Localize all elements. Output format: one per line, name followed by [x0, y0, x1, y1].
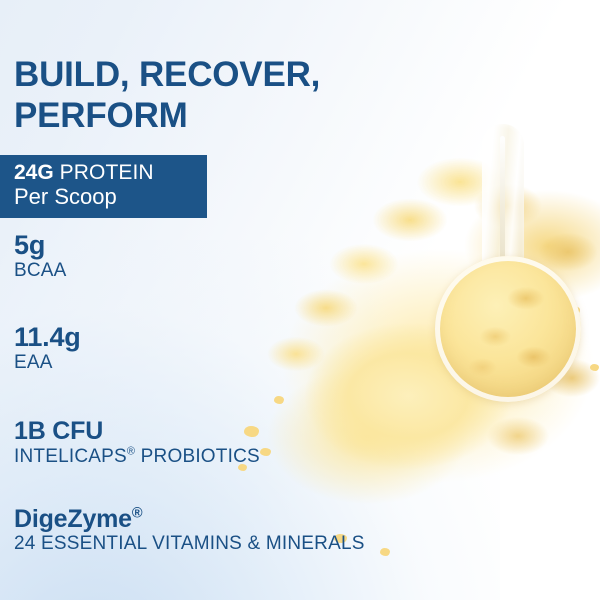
powder-lit-slope: [286, 311, 521, 496]
stat-bcaa-label: BCAA: [14, 260, 67, 282]
stat-cfu-value: 1B CFU: [14, 418, 260, 446]
probiotics-word: PROBIOTICS: [135, 446, 260, 467]
registered-trademark-mark: ®: [127, 445, 135, 457]
digezyme-brand: DigeZyme: [14, 505, 132, 533]
stat-digezyme: DigeZyme® 24 ESSENTIAL VITAMINS & MINERA…: [14, 505, 365, 556]
stat-eaa-label: EAA: [14, 352, 81, 374]
powder-crumb: [260, 448, 271, 456]
protein-badge: 24G PROTEIN Per Scoop: [0, 155, 207, 218]
stat-cfu: 1B CFU INTELICAPS® PROBIOTICS: [14, 418, 260, 468]
stat-digezyme-value: DigeZyme®: [14, 505, 365, 533]
protein-powder-photo: [238, 96, 600, 566]
registered-trademark-mark: ®: [132, 506, 142, 522]
powder-crumb: [568, 306, 580, 315]
scoop-handle-rib: [500, 136, 505, 286]
stat-eaa-value: 11.4g: [14, 323, 81, 352]
powder-crumb: [274, 396, 284, 404]
protein-badge-subtitle: Per Scoop: [14, 185, 207, 210]
scoop-handle: [482, 124, 524, 288]
powder-heap: [248, 136, 600, 556]
stat-bcaa-value: 5g: [14, 231, 67, 260]
scoop-bowl: [435, 256, 581, 402]
scoop-bowl-powder: [444, 265, 572, 393]
page-title: BUILD, RECOVER, PERFORM: [14, 55, 414, 137]
powder-ridge-highlight: [260, 148, 510, 398]
scoop-bowl-rim: [435, 256, 581, 402]
protein-amount: 24G: [14, 161, 54, 184]
stat-bcaa: 5g BCAA: [14, 231, 67, 283]
intelicaps-brand: INTELICAPS: [14, 446, 127, 467]
protein-badge-headline: 24G PROTEIN: [14, 162, 207, 185]
stat-cfu-label: INTELICAPS® PROBIOTICS: [14, 446, 260, 469]
product-infographic: BUILD, RECOVER, PERFORM 24G PROTEIN Per …: [0, 0, 600, 600]
powder-crumb: [590, 364, 599, 371]
headline-line-2: PERFORM: [14, 96, 188, 135]
stat-digezyme-label: 24 ESSENTIAL VITAMINS & MINERALS: [14, 533, 365, 556]
headline-line-1: BUILD, RECOVER,: [14, 55, 320, 94]
protein-unit-label: PROTEIN: [60, 161, 154, 184]
powder-shadow-clumps: [448, 166, 600, 496]
stat-eaa: 11.4g EAA: [14, 323, 81, 375]
powder-crumb: [380, 548, 390, 556]
